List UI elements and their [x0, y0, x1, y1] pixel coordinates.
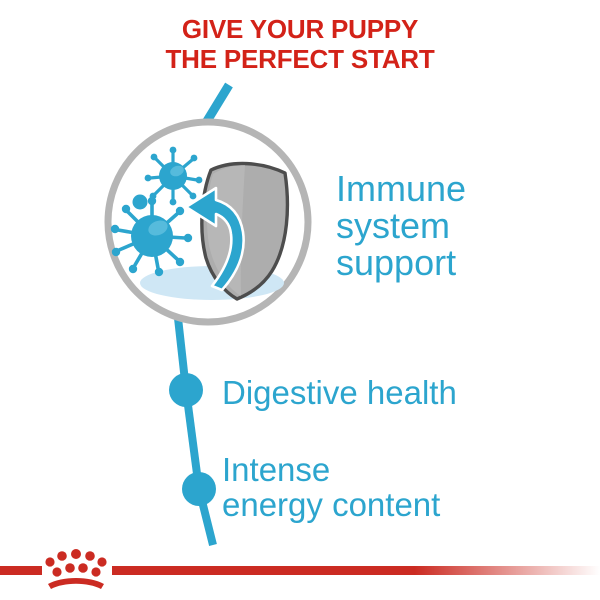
node-digestive — [169, 373, 203, 407]
node-energy — [182, 472, 216, 506]
feature-intense-energy-content: Intense energy content — [222, 452, 440, 522]
footer-brand-bar — [0, 540, 600, 600]
feature-immune-line-2: system — [336, 207, 466, 244]
feature-immune-line-1: Immune — [336, 170, 466, 207]
feature-energy-line-2: energy content — [222, 487, 440, 522]
feature-digestive-line-1: Digestive health — [222, 375, 457, 411]
red-divider-bar-left — [0, 566, 42, 575]
germ-dot — [133, 195, 148, 210]
feature-immune-system-support: Immune system support — [336, 170, 466, 281]
feature-digestive-health: Digestive health — [222, 375, 457, 411]
red-divider-bar-right — [112, 566, 600, 575]
infographic-canvas: GIVE YOUR PUPPY THE PERFECT START — [0, 0, 600, 600]
feature-energy-line-1: Intense — [222, 452, 440, 487]
feature-immune-line-3: support — [336, 244, 466, 281]
immune-shield-germs-icon — [108, 122, 308, 322]
royal-canin-crown-logo — [45, 549, 106, 589]
